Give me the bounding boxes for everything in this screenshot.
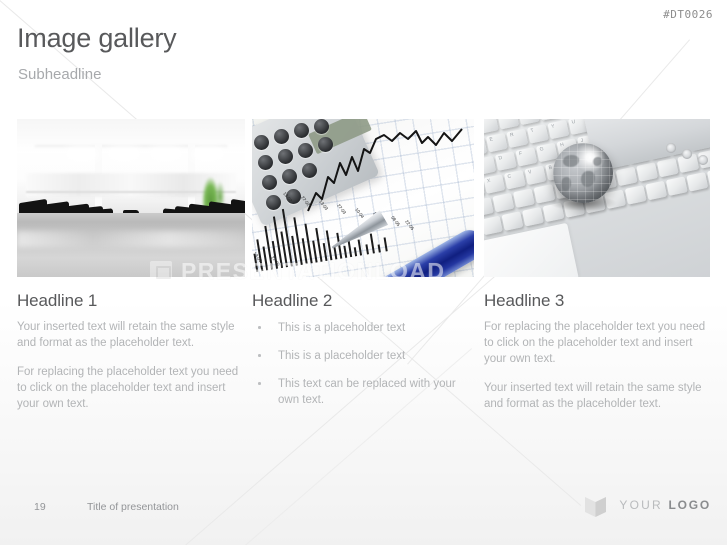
list-item-label: This is a placeholder text xyxy=(278,350,405,362)
gallery-column-1: Headline 1 Your inserted text will retai… xyxy=(17,119,245,412)
column-paragraph: For replacing the placeholder text you n… xyxy=(484,319,710,367)
cube-logo-icon xyxy=(584,492,607,518)
keyboard-key xyxy=(492,193,514,213)
column-paragraph: Your inserted text will retain the same … xyxy=(17,319,245,351)
keyboard-key: G xyxy=(536,143,558,163)
keyboard-key xyxy=(636,162,658,182)
keyboard-key: 4 xyxy=(497,119,519,130)
keyboard-key: X xyxy=(484,174,505,194)
column-headline: Headline 3 xyxy=(484,291,710,311)
keyboard-key xyxy=(484,216,503,236)
globe-keyboard-photo[interactable]: 234567890WERTYUIOPSDFGHJKLXCVBNM xyxy=(484,119,710,277)
bullet-dot-icon xyxy=(258,354,261,357)
column-headline: Headline 1 xyxy=(17,291,245,311)
keyboard-key xyxy=(616,167,638,187)
column-headline: Headline 2 xyxy=(252,291,474,311)
placeholder-bullet-list: This is a placeholder text This is a pla… xyxy=(252,320,474,408)
list-item-label: This is a placeholder text xyxy=(278,322,405,334)
keyboard-key xyxy=(686,172,708,192)
template-code-label: #DT0026 xyxy=(663,8,713,21)
column-paragraph: For replacing the placeholder text you n… xyxy=(17,364,245,412)
keyboard-key: R xyxy=(506,128,528,148)
keyboard-key: Y xyxy=(547,120,569,140)
globe-graphic xyxy=(553,143,613,203)
keyboard-key: 3 xyxy=(484,119,499,134)
page-subtitle: Subheadline xyxy=(18,66,101,83)
keyboard-key xyxy=(522,207,544,227)
logo-word-your: YOUR xyxy=(619,498,662,512)
list-item-label: This text can be replaced with your own … xyxy=(278,378,456,406)
boardroom-photo[interactable] xyxy=(17,119,245,277)
keyboard-key: F xyxy=(515,147,537,167)
keyboard-key xyxy=(513,188,535,208)
bullet-dot-icon xyxy=(258,382,261,385)
keyboard-key xyxy=(666,176,688,196)
footer-presentation-title: Title of presentation xyxy=(87,501,179,513)
keyboard-key xyxy=(657,158,679,178)
list-item: This text can be replaced with your own … xyxy=(252,376,474,408)
list-item: This is a placeholder text xyxy=(252,348,474,364)
keyboard-key: T xyxy=(527,124,549,144)
keyboard-key: C xyxy=(504,170,526,190)
page-title: Image gallery xyxy=(17,23,176,54)
keyboard-key xyxy=(625,185,647,205)
list-item: This is a placeholder text xyxy=(252,320,474,336)
keyboard-key xyxy=(645,181,667,201)
logo-text: YOUR LOGO xyxy=(619,498,711,512)
finance-chart-photo[interactable]: 13-02 27-02 13-03 27-03 10-04 24-04 08-0… xyxy=(252,119,474,277)
column-paragraph: Your inserted text will retain the same … xyxy=(484,380,710,412)
company-logo[interactable]: YOUR LOGO xyxy=(584,492,711,518)
keyboard-key: D xyxy=(495,151,517,171)
keyboard-key: S xyxy=(484,156,496,176)
keyboard-key: E xyxy=(486,133,508,153)
keyboard-key: V xyxy=(524,166,546,186)
slide-canvas: #DT0026 Image gallery Subheadline xyxy=(0,0,727,545)
logo-word-logo: LOGO xyxy=(668,498,711,512)
gallery-column-3: 234567890WERTYUIOPSDFGHJKLXCVBNM Headlin… xyxy=(484,119,710,412)
keyboard-key: 5 xyxy=(518,119,540,125)
keyboard-key xyxy=(501,211,523,231)
bullet-dot-icon xyxy=(258,326,261,329)
footer-page-number: 19 xyxy=(34,501,46,513)
gallery-column-2: 13-02 27-02 13-03 27-03 10-04 24-04 08-0… xyxy=(252,119,474,420)
